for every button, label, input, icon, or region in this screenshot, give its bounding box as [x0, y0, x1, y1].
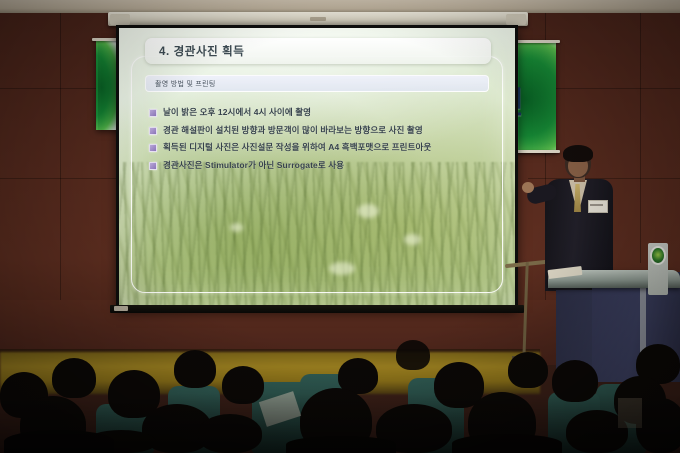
banner-swoosh-dark — [519, 42, 556, 152]
presenter-name-badge — [588, 200, 608, 213]
bullet-square-icon — [149, 162, 157, 170]
bullet-text: 날이 밝은 오후 12시에서 4시 사이에 촬영 — [163, 106, 311, 119]
audience-shoulders — [286, 436, 396, 453]
audience-shoulders — [4, 430, 114, 453]
slide-bullet-list: 날이 밝은 오후 12시에서 4시 사이에 촬영 경관 해설판이 설치된 방향과… — [149, 106, 489, 176]
bullet-text: 획득된 디지털 사진은 사진설문 작성을 위하여 A4 흑백포맷으로 프린트아웃 — [163, 141, 431, 154]
audience-head — [552, 360, 598, 402]
audience-head — [508, 352, 548, 388]
bullet-square-icon — [149, 144, 157, 152]
slide-subtitle: 촬영 방법 및 프린팅 — [155, 79, 216, 89]
list-item: 획득된 디지털 사진은 사진설문 작성을 위하여 A4 흑백포맷으로 프린트아웃 — [149, 141, 489, 154]
presenter-hand — [522, 182, 534, 193]
audience-head — [198, 414, 262, 453]
slide-title: 4. 경관사진 획득 — [159, 43, 244, 59]
roller-cap-right — [506, 14, 526, 25]
audience-head — [52, 358, 96, 398]
list-item: 경관 해설판이 설치된 방향과 방문객이 많이 바라보는 방향으로 사진 촬영 — [149, 124, 489, 137]
projection-screen-bottom-bar — [110, 305, 524, 313]
presenter-name-badge-text — [590, 204, 603, 206]
screen-pull-knob[interactable] — [114, 306, 128, 311]
bullet-square-icon — [149, 109, 157, 117]
audience-head — [222, 366, 264, 404]
slide-title-box: 4. 경관사진 획득 — [145, 38, 491, 64]
audience-shoulders — [452, 434, 562, 453]
bullet-square-icon — [149, 127, 157, 135]
lecture-hall-photo: 젼 4. 경관사진 획득 촬영 방법 및 프린팅 날이 밝은 오후 12시에서 … — [0, 0, 680, 453]
presenter-hair — [563, 145, 593, 162]
audience-head — [636, 398, 680, 453]
wall-seam — [0, 178, 120, 179]
slide-subtitle-box: 촬영 방법 및 프린팅 — [145, 75, 489, 92]
presentation-slide: 4. 경관사진 획득 촬영 방법 및 프린팅 날이 밝은 오후 12시에서 4시… — [119, 28, 515, 307]
wall-seam — [640, 13, 641, 263]
audience-paper — [618, 398, 642, 428]
roller-brand-badge — [310, 17, 326, 21]
roller-cap-left — [110, 14, 130, 25]
list-item: 경관사진은 Stimulator가 아닌 Surrogate로 사용 — [149, 159, 489, 172]
bullet-text: 경관사진은 Stimulator가 아닌 Surrogate로 사용 — [163, 159, 344, 172]
projection-screen-roller — [108, 12, 528, 26]
bullet-text: 경관 해설판이 설치된 방향과 방문객이 많이 바라보는 방향으로 사진 촬영 — [163, 124, 423, 137]
podium-logo-icon — [652, 248, 664, 263]
audience-head — [174, 350, 216, 388]
audience-head — [396, 340, 430, 370]
list-item: 날이 밝은 오후 12시에서 4시 사이에 촬영 — [149, 106, 489, 119]
